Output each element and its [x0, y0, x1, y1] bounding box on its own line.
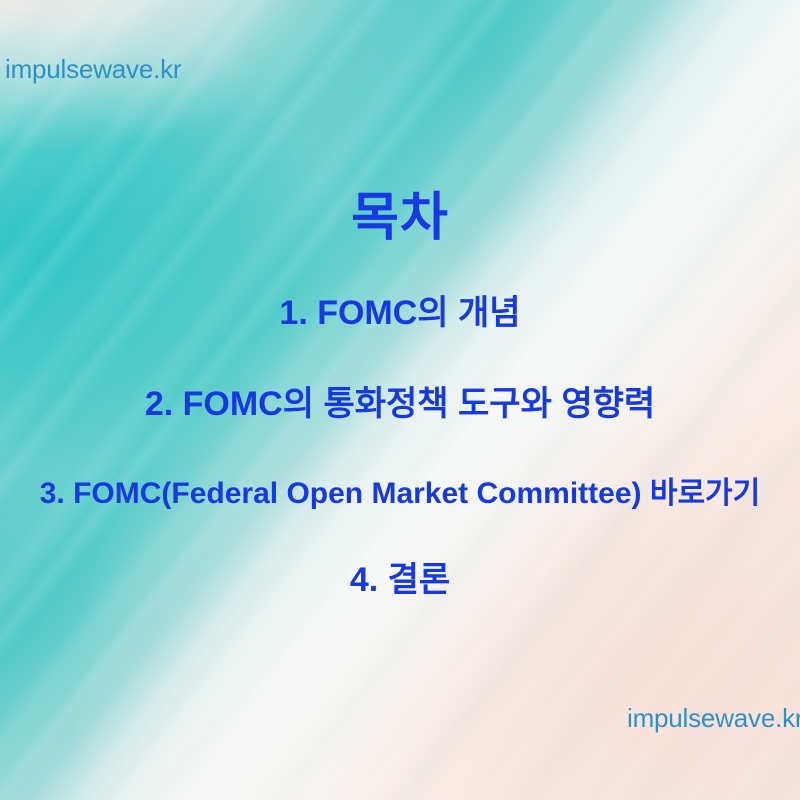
watermark-bottom: impulsewave.kr: [627, 703, 800, 734]
toc-item-2[interactable]: 2. FOMC의 통화정책 도구와 영향력: [0, 387, 800, 421]
watermark-top: impulsewave.kr: [5, 54, 181, 85]
slide-canvas: impulsewave.kr 목차 1. FOMC의 개념 2. FOMC의 통…: [0, 0, 800, 800]
slide-content: impulsewave.kr 목차 1. FOMC의 개념 2. FOMC의 통…: [0, 0, 800, 800]
toc-item-3[interactable]: 3. FOMC(Federal Open Market Committee) 바…: [0, 479, 800, 509]
toc-item-1[interactable]: 1. FOMC의 개념: [0, 296, 800, 330]
page-title: 목차: [0, 192, 800, 244]
toc-item-4[interactable]: 4. 결론: [0, 563, 800, 597]
